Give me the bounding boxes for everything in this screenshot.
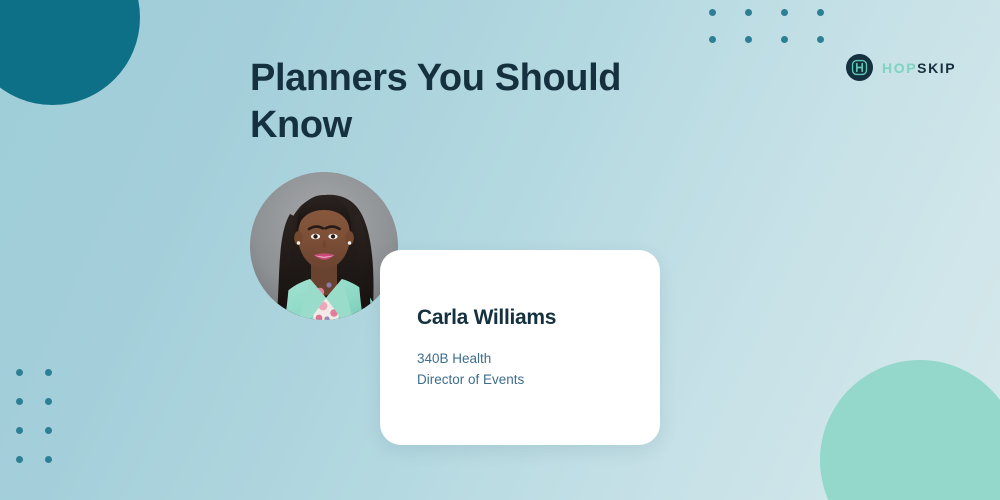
dot	[781, 9, 788, 16]
dot	[817, 36, 824, 43]
hopskip-logo[interactable]: HOPSKIP	[846, 54, 956, 81]
person-job-title: Director of Events	[417, 370, 644, 391]
dot	[709, 9, 716, 16]
profile-card-text: Carla Williams 340B Health Director of E…	[417, 306, 644, 391]
dot	[16, 398, 23, 405]
avatar	[250, 172, 398, 320]
profile-card: Carla Williams 340B Health Director of E…	[380, 250, 660, 445]
logo-word-skip: SKIP	[917, 60, 956, 76]
promo-graphic: HOPSKIP Planners You Should Know	[0, 0, 1000, 500]
dot	[45, 456, 52, 463]
dot	[16, 427, 23, 434]
person-name: Carla Williams	[417, 306, 644, 329]
dot	[745, 9, 752, 16]
dot	[745, 36, 752, 43]
dot	[45, 427, 52, 434]
corner-decoration-bottom-right	[820, 360, 1000, 500]
logo-word-hop: HOP	[882, 60, 917, 76]
page-title: Planners You Should Know	[250, 55, 690, 149]
dot-grid-top-right	[709, 9, 853, 63]
dot	[781, 36, 788, 43]
corner-decoration-top-left	[0, 0, 140, 105]
dot	[45, 398, 52, 405]
logo-wordmark: HOPSKIP	[882, 61, 956, 75]
dot	[16, 456, 23, 463]
dot-grid-bottom-left	[16, 369, 74, 485]
person-organization: 340B Health	[417, 349, 644, 370]
dot	[16, 369, 23, 376]
hopskip-h-monogram-icon	[846, 54, 873, 81]
dot	[709, 36, 716, 43]
dot	[817, 9, 824, 16]
dot	[45, 369, 52, 376]
